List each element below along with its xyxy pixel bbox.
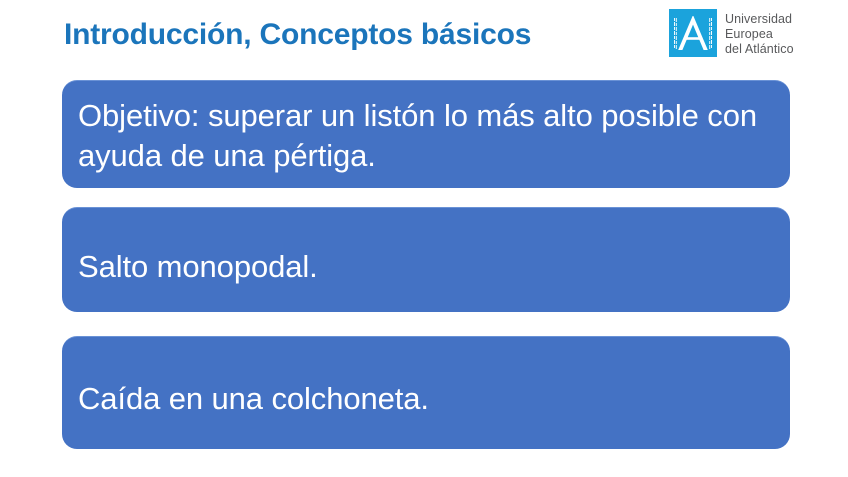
universidad-europea-atlantico-a-monogram-icon [669,9,717,57]
content-box-text: Objetivo: superar un listón lo más alto … [62,93,790,176]
slide-canvas: Introducción, Conceptos básicos [0,0,848,477]
content-box: Salto monopodal. [62,207,790,312]
content-box-text: Salto monopodal. [62,233,334,287]
content-box-text: Caída en una colchoneta. [62,367,445,419]
logo-line-1: Universidad [725,12,794,27]
content-box: Caída en una colchoneta. [62,336,790,449]
university-logo-wordmark: Universidad Europea del Atlántico [725,12,794,57]
page-title: Introducción, Conceptos básicos [64,17,664,53]
university-logo: Universidad Europea del Atlántico [669,9,839,64]
logo-line-2: Europea [725,27,794,42]
content-box: Objetivo: superar un listón lo más alto … [62,80,790,188]
logo-line-3: del Atlántico [725,42,794,57]
